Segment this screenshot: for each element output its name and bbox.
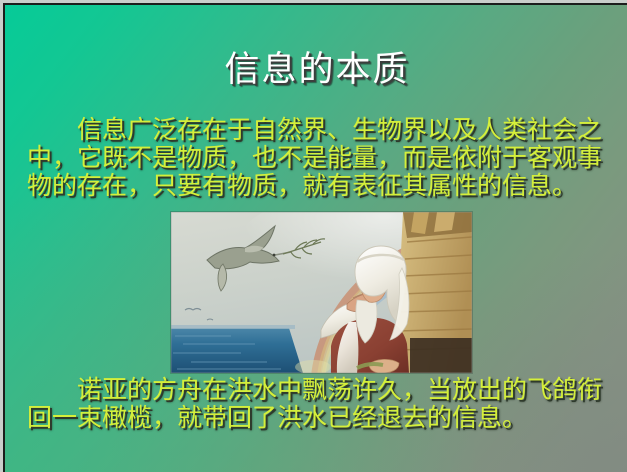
noahs-ark-illustration (171, 212, 472, 373)
slide-canvas: 信息的本质 信息广泛存在于自然界、生物界以及人类社会之中，它既不是物质，也不是能… (3, 3, 627, 472)
noahs-ark-image (171, 212, 472, 373)
page-title: 信息的本质 (5, 49, 627, 91)
sea (171, 328, 303, 373)
horizon (171, 325, 295, 329)
body-paragraph-top: 信息广泛存在于自然界、生物界以及人类社会之中，它既不是物质，也不是能量，而是依附… (27, 117, 611, 201)
slide-frame: 信息的本质 信息广泛存在于自然界、生物界以及人类社会之中，它既不是物质，也不是能… (0, 0, 627, 472)
ark-doorway (410, 338, 472, 373)
body-paragraph-bottom: 诺亚的方舟在洪水中飘荡许久，当放出的飞鸽衔回一束橄榄，就带回了洪水已经退去的信息… (27, 377, 611, 433)
